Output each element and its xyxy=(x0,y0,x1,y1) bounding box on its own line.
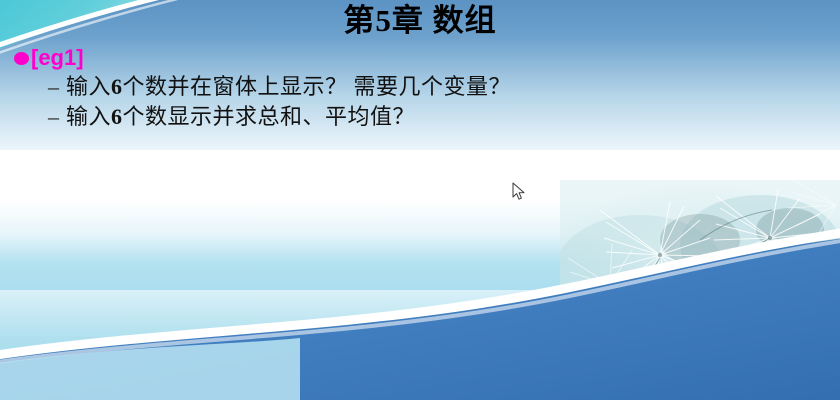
slide-title: 第5章 数组 xyxy=(0,2,840,40)
dash-marker-icon: – xyxy=(48,74,59,100)
sub-seg: 个数显示并求总和、平均值？ xyxy=(123,104,416,129)
presentation-slide: 第5章 数组 [eg1] – 输入6个数并在窗体上显示？ 需要几个变量？ – 输… xyxy=(0,0,840,400)
example-bullet-row: [eg1] xyxy=(0,44,840,72)
dash-marker-icon: – xyxy=(48,104,59,130)
example-label: [eg1] xyxy=(31,46,84,70)
sub-item-text: 输入6个数显示并求总和、平均值？ xyxy=(66,104,415,130)
sub-seg-bold: 6 xyxy=(111,104,123,129)
sub-seg: 输入 xyxy=(66,104,111,129)
bullet-dot-icon xyxy=(14,52,29,65)
sub-item-row: – 输入6个数显示并求总和、平均值？ xyxy=(0,102,840,132)
sub-item-text: 输入6个数并在窗体上显示？ 需要几个变量？ xyxy=(66,74,511,100)
sub-seg: 个数并在窗体上显示？ 需要几个变量？ xyxy=(123,74,512,99)
sub-seg-bold: 6 xyxy=(111,74,123,99)
slide-body: [eg1] – 输入6个数并在窗体上显示？ 需要几个变量？ – 输入6个数显示并… xyxy=(0,44,840,132)
sub-seg: 输入 xyxy=(66,74,111,99)
sub-item-row: – 输入6个数并在窗体上显示？ 需要几个变量？ xyxy=(0,72,840,102)
